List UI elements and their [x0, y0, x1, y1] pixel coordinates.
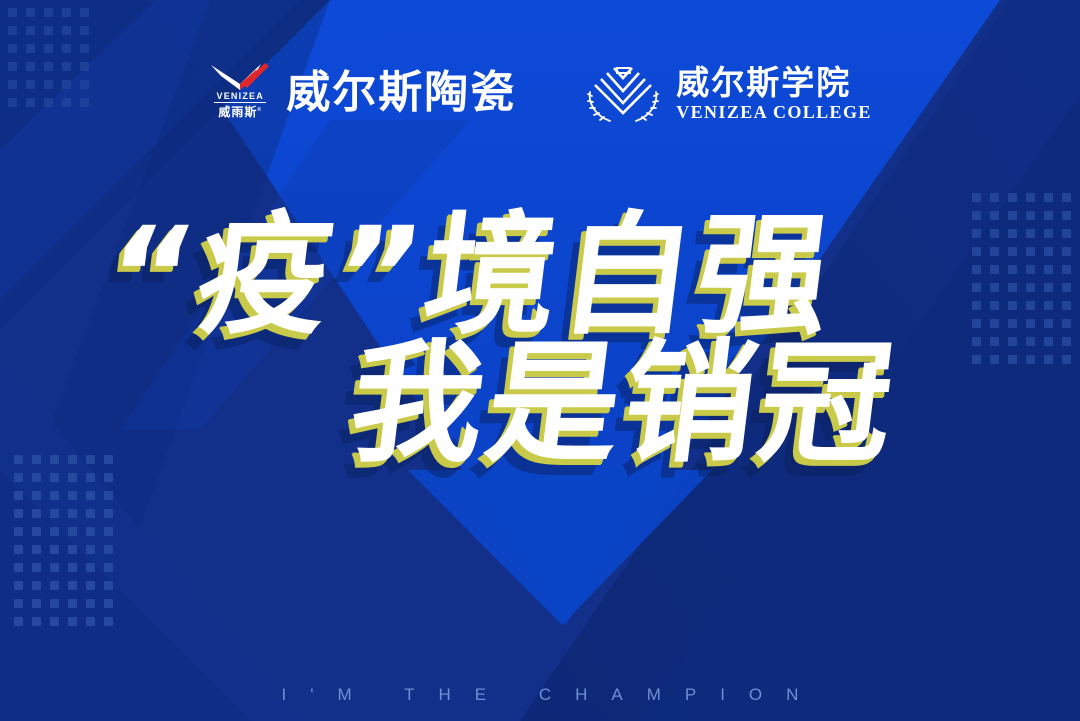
venizea-swoosh-mark-icon: VENIZEA 威雨斯® [208, 62, 272, 124]
logo-rule [214, 102, 266, 103]
college-chinese-name: 威尔斯学院 [676, 65, 872, 101]
college-brand-logo[interactable]: 威尔斯学院 VENIZEA COLLEGE [584, 58, 872, 128]
chevron-point-highlight [408, 470, 712, 625]
bottom-left-field-2 [0, 470, 250, 721]
ceramics-brand-name: 威尔斯陶瓷 [286, 69, 516, 117]
headline-line-1: “疫”境自强 [100, 210, 1080, 342]
college-book-laurel-emblem-icon [584, 58, 662, 128]
header-logos: VENIZEA 威雨斯® 威尔斯陶瓷 [0, 58, 1080, 128]
headline-line-2-text: 我是销冠 [344, 338, 904, 470]
trademark-symbol: ® [257, 107, 262, 113]
venizea-chinese-text: 威雨斯® [218, 104, 262, 119]
college-english-name: VENIZEA COLLEGE [676, 102, 872, 122]
poster-canvas: VENIZEA 威雨斯® 威尔斯陶瓷 [0, 0, 1080, 721]
college-text-block: 威尔斯学院 VENIZEA COLLEGE [676, 65, 872, 122]
headline-line-2: 我是销冠 [344, 338, 1080, 470]
ceramics-brand-logo[interactable]: VENIZEA 威雨斯® 威尔斯陶瓷 [208, 62, 516, 124]
venizea-latin-text: VENIZEA [217, 91, 264, 101]
footer-tagline: I'M THE CHAMPION [0, 685, 1080, 705]
swoosh-icon [209, 62, 271, 92]
headline-line-1-text: “疫”境自强 [100, 210, 842, 342]
headline-block: “疫”境自强 我是销冠 [0, 210, 1080, 470]
